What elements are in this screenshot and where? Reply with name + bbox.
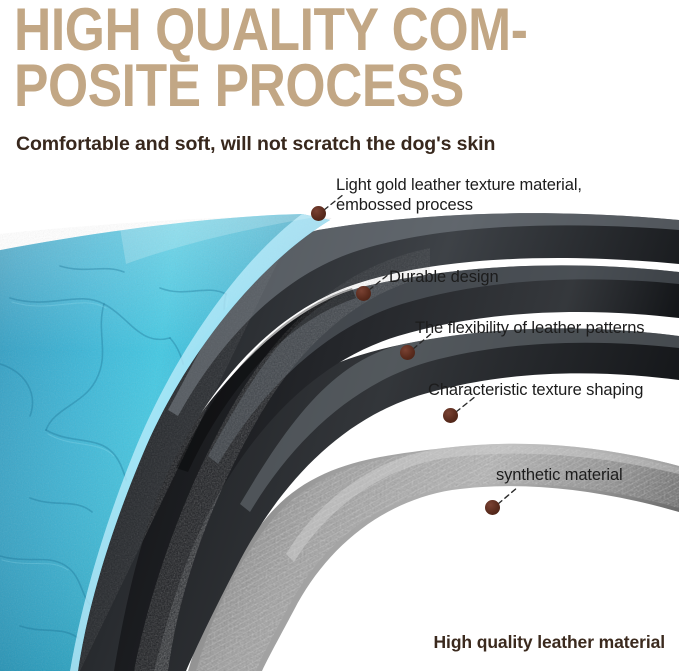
- callout-dot-synthetic-material[interactable]: [485, 500, 500, 515]
- callout-dot-durable-design[interactable]: [356, 286, 371, 301]
- callout-label-durable-design: Durable design: [389, 268, 499, 288]
- callout-label-light-gold-leather: Light gold leather texture material, emb…: [336, 176, 582, 216]
- page-headline: HIGH QUALITY COM- POSITE PROCESS: [14, 2, 573, 114]
- material-layers-illustration: [0, 168, 679, 671]
- footer-caption: High quality leather material: [434, 632, 665, 653]
- callout-label-texture-shaping: Characteristic texture shaping: [428, 381, 643, 401]
- callout-dot-texture-shaping[interactable]: [443, 408, 458, 423]
- callout-dot-leather-flexibility[interactable]: [400, 345, 415, 360]
- callout-label-leather-flexibility: The flexibility of leather patterns: [415, 319, 644, 339]
- page-subtitle: Comfortable and soft, will not scratch t…: [16, 133, 495, 156]
- callout-dot-light-gold-leather[interactable]: [311, 206, 326, 221]
- callout-label-synthetic-material: synthetic material: [496, 466, 623, 486]
